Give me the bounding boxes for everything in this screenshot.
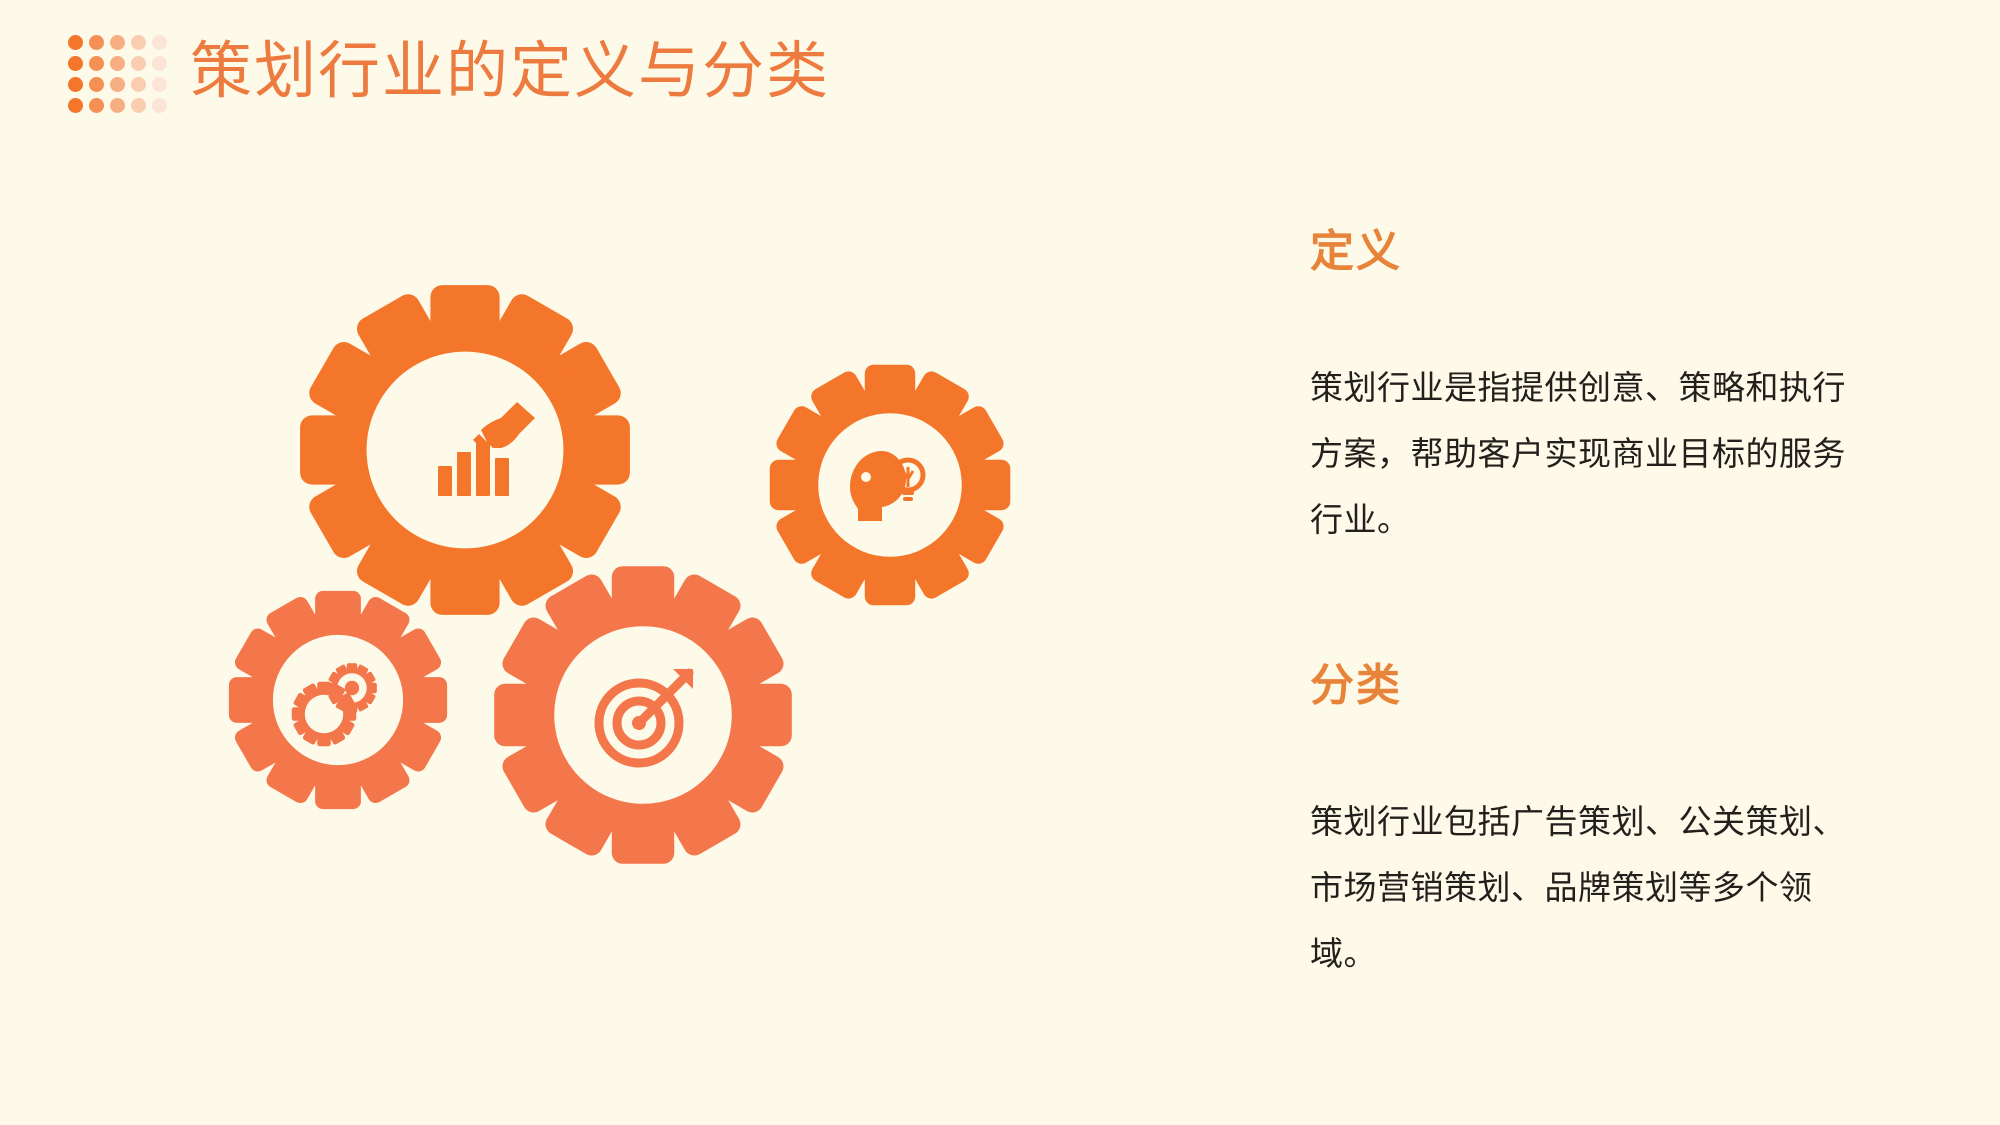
section-body-classification: 策划行业包括广告策划、公关策划、市场营销策划、品牌策划等多个领域。 [1310,790,1870,988]
section-classification: 分类 策划行业包括广告策划、公关策划、市场营销策划、品牌策划等多个领域。 [1310,664,1910,988]
section-heading-classification: 分类 [1310,664,1910,708]
dot-grid-dot [110,56,125,71]
dot-grid-dot [89,56,104,71]
dot-grid-dot [131,77,146,92]
content-column: 定义 策划行业是指提供创意、策略和执行方案，帮助客户实现商业目标的服务行业。 分… [1310,230,1910,988]
hand-drawing-bar-chart-icon [438,402,535,496]
slide-header: 策划行业的定义与分类 [0,0,2000,160]
dot-grid-dot [152,77,167,92]
page-title: 策划行业的定义与分类 [190,38,830,106]
dot-grid-dot [89,77,104,92]
gear-main [300,285,630,615]
section-body-definition: 策划行业是指提供创意、策略和执行方案，帮助客户实现商业目标的服务行业。 [1310,356,1870,554]
dot-grid-dot [131,56,146,71]
section-gap [1310,554,1910,664]
dot-grid-dot [110,98,125,113]
dot-grid-dot [110,77,125,92]
cogs-icon [292,663,377,746]
interlocking-gears-illustration [200,260,1200,940]
dot-grid-dot [68,77,83,92]
dot-grid-dot [131,98,146,113]
dot-grid-dot [131,35,146,50]
dot-grid-dot [68,98,83,113]
dot-grid-dot [89,98,104,113]
dot-grid-dot [68,35,83,50]
head-lightbulb-icon [850,451,923,521]
target-arrow-icon [599,669,693,763]
dot-grid-dot [68,56,83,71]
section-heading-definition: 定义 [1310,230,1910,274]
section-definition: 定义 策划行业是指提供创意、策略和执行方案，帮助客户实现商业目标的服务行业。 [1310,230,1910,554]
dot-grid-dot [152,56,167,71]
dot-grid-dot [152,35,167,50]
slide-root: 策划行业的定义与分类 [0,0,2000,1125]
dot-grid-icon [68,35,173,119]
dot-grid-dot [152,98,167,113]
dot-grid-dot [110,35,125,50]
dot-grid-dot [89,35,104,50]
